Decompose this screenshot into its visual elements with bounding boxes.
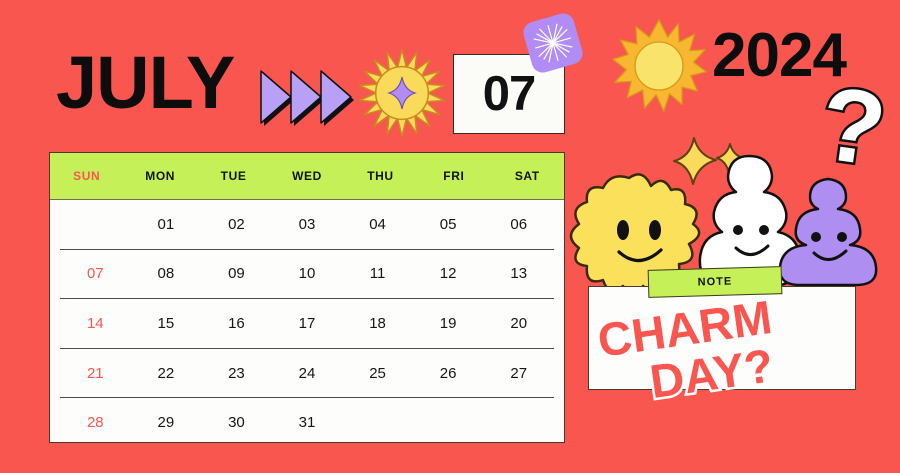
day-cell[interactable] bbox=[342, 398, 413, 447]
day-cell[interactable]: 03 bbox=[272, 200, 343, 249]
calendar-poster: JULY bbox=[0, 0, 900, 473]
tree-smiley-character bbox=[776, 175, 880, 300]
day-cell[interactable]: 05 bbox=[413, 200, 484, 249]
day-cell[interactable] bbox=[483, 398, 554, 447]
date-badge-number: 07 bbox=[483, 70, 536, 119]
day-cell[interactable] bbox=[60, 200, 131, 249]
triple-chevron-right-icon bbox=[258, 66, 354, 134]
day-cell[interactable]: 26 bbox=[413, 349, 484, 398]
day-cell[interactable]: 09 bbox=[201, 250, 272, 299]
sun-icon bbox=[611, 18, 707, 114]
month-title: JULY bbox=[56, 46, 234, 120]
weekday-sat: SAT bbox=[491, 153, 564, 199]
day-cell[interactable]: 28 bbox=[60, 398, 131, 447]
weekday-mon: MON bbox=[123, 153, 196, 199]
calendar-week-row: 01 02 03 04 05 06 bbox=[60, 200, 554, 250]
day-cell[interactable]: 20 bbox=[483, 299, 554, 348]
day-cell[interactable]: 21 bbox=[60, 349, 131, 398]
note-tag: NOTE bbox=[648, 266, 783, 298]
day-cell[interactable]: 07 bbox=[60, 250, 131, 299]
weekday-wed: WED bbox=[270, 153, 343, 199]
day-cell[interactable]: 30 bbox=[201, 398, 272, 447]
day-cell[interactable]: 04 bbox=[342, 200, 413, 249]
day-cell[interactable]: 18 bbox=[342, 299, 413, 348]
weekday-tue: TUE bbox=[197, 153, 270, 199]
svg-text:?: ? bbox=[813, 80, 892, 189]
day-cell[interactable]: 13 bbox=[483, 250, 554, 299]
day-cell[interactable]: 23 bbox=[201, 349, 272, 398]
day-cell[interactable]: 14 bbox=[60, 299, 131, 348]
note-tag-label: NOTE bbox=[698, 276, 733, 289]
day-cell[interactable]: 15 bbox=[131, 299, 202, 348]
day-cell[interactable]: 16 bbox=[201, 299, 272, 348]
calendar-week-row: 28 29 30 31 bbox=[60, 398, 554, 447]
calendar-week-row: 21 22 23 24 25 26 27 bbox=[60, 349, 554, 399]
day-cell[interactable]: 29 bbox=[131, 398, 202, 447]
day-cell[interactable]: 19 bbox=[413, 299, 484, 348]
day-cell[interactable]: 31 bbox=[272, 398, 343, 447]
weekday-thu: THU bbox=[344, 153, 417, 199]
day-cell[interactable]: 10 bbox=[272, 250, 343, 299]
day-cell[interactable]: 12 bbox=[413, 250, 484, 299]
starburst-sun-icon bbox=[355, 46, 449, 140]
calendar-weekday-header: SUN MON TUE WED THU FRI SAT bbox=[50, 153, 564, 200]
calendar-card: SUN MON TUE WED THU FRI SAT 01 02 03 04 … bbox=[49, 152, 565, 443]
calendar-grid: 01 02 03 04 05 06 07 08 09 10 11 12 13 1… bbox=[50, 200, 564, 447]
day-cell[interactable]: 11 bbox=[342, 250, 413, 299]
year-label: 2024 bbox=[712, 25, 846, 87]
day-cell[interactable]: 08 bbox=[131, 250, 202, 299]
day-cell[interactable]: 02 bbox=[201, 200, 272, 249]
note-card bbox=[588, 286, 856, 390]
day-cell[interactable]: 27 bbox=[483, 349, 554, 398]
question-mark-icon: ? bbox=[812, 80, 892, 190]
weekday-sun: SUN bbox=[50, 153, 123, 199]
day-cell[interactable]: 06 bbox=[483, 200, 554, 249]
calendar-week-row: 14 15 16 17 18 19 20 bbox=[60, 299, 554, 349]
day-cell[interactable]: 01 bbox=[131, 200, 202, 249]
day-cell[interactable]: 17 bbox=[272, 299, 343, 348]
day-cell[interactable]: 22 bbox=[131, 349, 202, 398]
day-cell[interactable]: 25 bbox=[342, 349, 413, 398]
calendar-week-row: 07 08 09 10 11 12 13 bbox=[60, 250, 554, 300]
day-cell[interactable] bbox=[413, 398, 484, 447]
weekday-fri: FRI bbox=[417, 153, 490, 199]
day-cell[interactable]: 24 bbox=[272, 349, 343, 398]
